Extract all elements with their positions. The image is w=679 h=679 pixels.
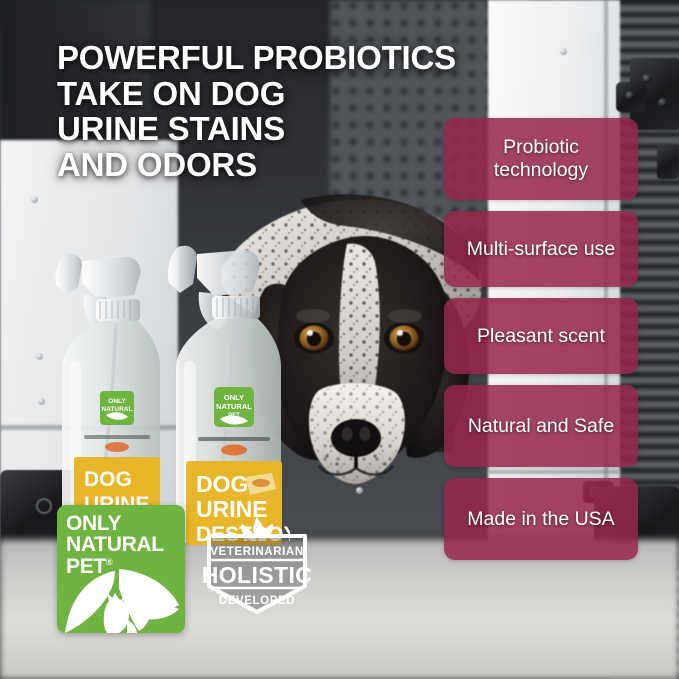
crate-rivet — [560, 48, 567, 55]
dog-urine-destroyer-bottle-front: ONLY NATURAL PET DOG URINE DESTROYER — [160, 237, 290, 547]
feature-badge-list: Probiotic technology Multi-surface use P… — [444, 118, 644, 571]
product-marketing-image: ONLY NATURAL DOG URINE DESTROYER — [0, 0, 679, 679]
crate-rivet — [31, 196, 38, 203]
svg-text:ONLY: ONLY — [108, 398, 126, 405]
only-natural-pet-logo: ONLY NATURAL PET® — [57, 505, 185, 633]
svg-text:DOG: DOG — [84, 468, 132, 491]
svg-text:DOG: DOG — [196, 471, 248, 497]
svg-text:NATURAL: NATURAL — [216, 402, 252, 411]
feature-badge: Multi-surface use — [444, 211, 638, 287]
feature-badge: Natural and Safe — [444, 385, 638, 467]
feature-badge: Probiotic technology — [444, 118, 638, 200]
svg-text:NATURAL: NATURAL — [102, 406, 133, 413]
seal-main-label: HOLISTIC — [202, 562, 313, 588]
feature-badge: Made in the USA — [444, 478, 638, 560]
crate-rivet — [36, 353, 43, 360]
seal-bottom-label: DEVELOPED — [219, 595, 295, 607]
crate-latch-upper — [616, 82, 646, 112]
crate-bracket-right — [657, 145, 679, 179]
leaf-dog-cat-logo-icon — [57, 561, 185, 633]
feature-badge: Pleasant scent — [444, 298, 638, 374]
page-title: POWERFUL PROBIOTICS TAKE ON DOG URINE ST… — [57, 40, 487, 183]
svg-text:ONLY: ONLY — [224, 393, 244, 402]
crate-rivet — [38, 398, 45, 405]
veterinarian-holistic-developed-seal: VETERINARIAN HOLISTIC DEVELOPED — [197, 512, 317, 620]
dog-urine-destroyer-bottle-back: ONLY NATURAL DOG URINE DESTROYER — [48, 243, 168, 543]
seal-top-label: VETERINARIAN — [210, 546, 303, 558]
